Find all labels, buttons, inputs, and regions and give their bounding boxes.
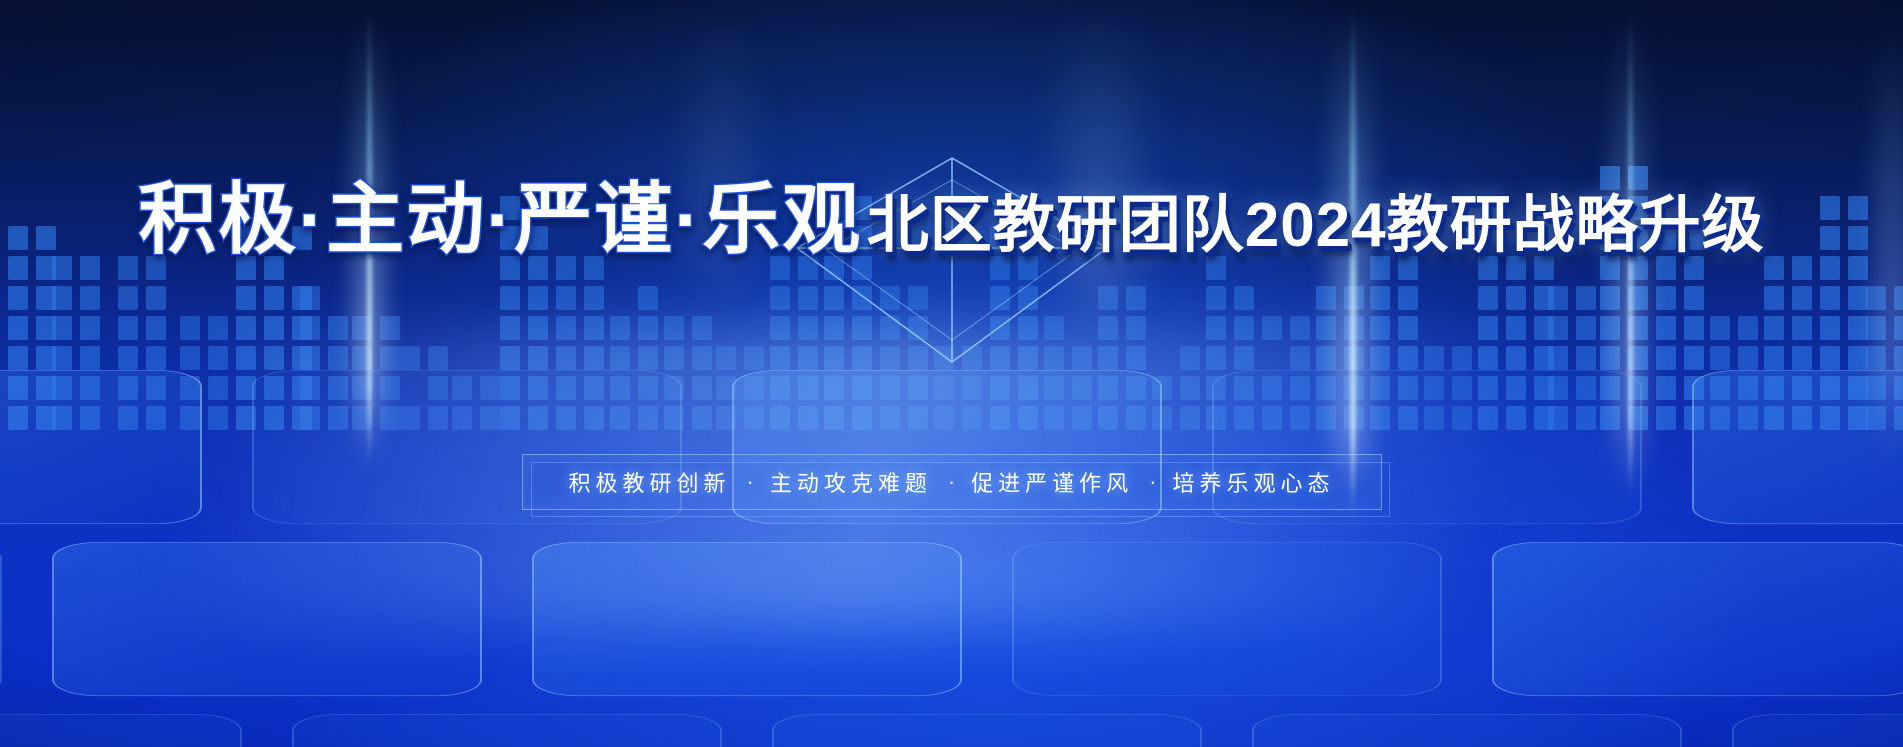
pixel-block [1628, 286, 1648, 310]
pixel-block [1344, 286, 1364, 310]
floor-tile [1252, 714, 1682, 747]
pixel-block [1894, 286, 1903, 310]
pixel-block [1234, 286, 1254, 310]
pixel-block [556, 286, 576, 310]
pixel-block [1316, 286, 1336, 310]
pixel-block [146, 286, 166, 310]
banner-text-block: 积极·主动·严谨·乐观 北区教研团队2024教研战略升级 [0, 168, 1903, 264]
pixel-block [52, 286, 72, 310]
pixel-block [80, 286, 100, 310]
floor-tile [0, 542, 2, 696]
pixel-block [638, 286, 658, 310]
pixel-block [1398, 286, 1418, 310]
pixel-block [1866, 286, 1886, 310]
pixel-block [300, 286, 320, 310]
floor-tile [772, 714, 1202, 747]
perspective-floor-decoration [0, 327, 1903, 747]
floor-tile [1012, 542, 1442, 696]
pixel-block [1684, 286, 1704, 310]
pixel-block [1548, 286, 1568, 310]
pixel-block [8, 286, 28, 310]
pixel-block [1370, 286, 1390, 310]
pixel-block [264, 286, 284, 310]
floor-tile [1732, 714, 1903, 747]
page-subtitle: 北区教研团队2024教研战略升级 [867, 174, 1765, 264]
pixel-block [1656, 286, 1676, 310]
slogan-text: 积极教研创新·主动攻克难题·促进严谨作风·培养乐观心态 [522, 454, 1382, 510]
slogan-separator: · [1149, 469, 1156, 495]
slogan-item: 促进严谨作风 [971, 466, 1133, 498]
pixel-block [1576, 286, 1596, 310]
pixel-block [1126, 286, 1146, 310]
floor-tile [292, 714, 722, 747]
floor-tile [0, 714, 242, 747]
slogan-separator: · [948, 469, 955, 495]
slogan-separator: · [746, 469, 753, 495]
pixel-block [1478, 286, 1498, 310]
event-banner: 积极·主动·严谨·乐观 北区教研团队2024教研战略升级 积极教研创新·主动攻克… [0, 0, 1903, 747]
floor-tile [532, 542, 962, 696]
floor-tile [52, 542, 482, 696]
pixel-block [1820, 286, 1840, 310]
pixel-block [1506, 286, 1526, 310]
floor-tile [1692, 370, 1903, 524]
pixel-block [1600, 286, 1620, 310]
pixel-block [118, 286, 138, 310]
slogan-banner: 积极教研创新·主动攻克难题·促进严谨作风·培养乐观心态 [522, 454, 1382, 510]
floor-tile [0, 370, 202, 524]
page-title: 积极·主动·严谨·乐观 [138, 180, 862, 260]
pixel-block [500, 286, 520, 310]
pixel-block [584, 286, 604, 310]
slogan-item: 主动攻克难题 [770, 466, 932, 498]
pixel-block [1764, 286, 1784, 310]
pixel-block [1792, 286, 1812, 310]
slogan-item: 培养乐观心态 [1173, 466, 1335, 498]
pixel-block [1206, 286, 1226, 310]
pixel-block [528, 286, 548, 310]
floor-tile [1492, 542, 1903, 696]
pixel-block [236, 286, 256, 310]
slogan-item: 积极教研创新 [568, 466, 730, 498]
pixel-block [1848, 286, 1868, 310]
